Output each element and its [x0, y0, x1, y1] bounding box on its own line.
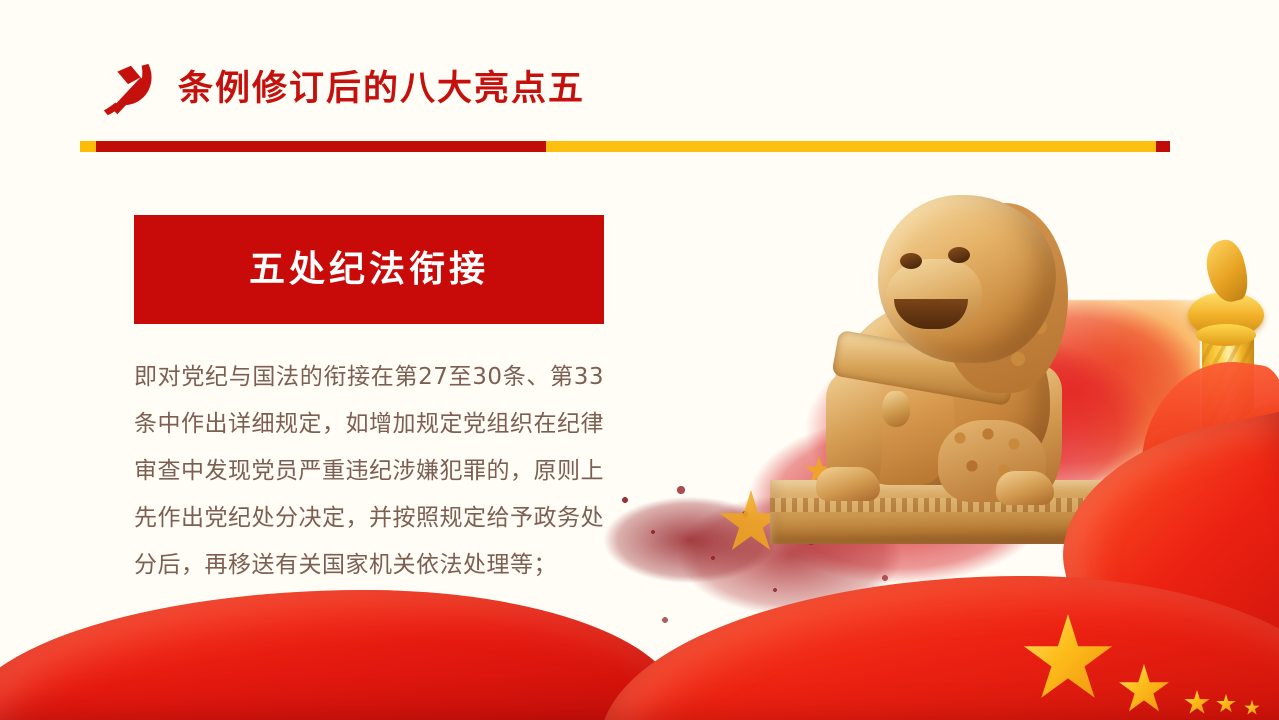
huabiao-column-icon — [1186, 232, 1264, 652]
divider-segment-red-end — [1156, 141, 1170, 152]
lion-rear-leg — [986, 365, 1062, 495]
huabiao-disc — [1188, 292, 1264, 338]
huabiao-cloud-board-right — [1238, 404, 1279, 476]
lion-paw — [816, 467, 880, 501]
flag-star-icon — [718, 490, 784, 556]
lion-mane — [940, 203, 1068, 393]
content-column: 五处纪法衔接 即对党纪与国法的衔接在第27至30条、第33条中作出详细规定，如增… — [134, 215, 604, 589]
slide-header: 条例修订后的八大亮点五 — [0, 0, 1279, 170]
red-silk-ribbon-tail — [1125, 351, 1279, 600]
header-divider — [80, 141, 1170, 152]
watercolor-splash — [600, 300, 1200, 660]
divider-segment-yellow-main — [546, 141, 1156, 152]
callout-label: 五处纪法衔接 — [249, 252, 489, 288]
title-row: 条例修订后的八大亮点五 — [98, 58, 585, 120]
lion-eye — [948, 247, 970, 263]
flag-star-icon — [804, 456, 834, 486]
lion-mouth — [894, 299, 968, 329]
flag-star-icon — [828, 518, 854, 544]
divider-segment-red-main — [96, 141, 546, 152]
lion-head — [878, 195, 1056, 363]
lion-body — [830, 300, 1050, 485]
lion-cub — [938, 420, 1046, 502]
lion-front-leg — [826, 373, 882, 501]
red-silk-ribbon-right — [600, 576, 1279, 720]
lion-muzzle — [886, 259, 982, 331]
body-paragraph: 即对党纪与国法的衔接在第27至30条、第33条中作出详细规定，如增加规定党组织在… — [134, 354, 604, 589]
gold-star-tiny-icon — [1244, 700, 1260, 716]
watercolor-speckles-icon — [605, 470, 935, 670]
gold-star-small-icon — [1184, 690, 1210, 716]
red-silk-ribbon-left — [0, 590, 680, 720]
huabiao-beast — [1201, 236, 1253, 305]
huabiao-ring — [1196, 324, 1256, 346]
gold-star-large-icon — [1022, 614, 1114, 706]
lion-chest — [845, 345, 955, 485]
gold-star-tiny-icon — [1216, 694, 1236, 714]
huabiao-cloud-board-left — [1142, 428, 1194, 494]
flag-star-icon — [878, 396, 904, 422]
lion-bell — [882, 391, 910, 427]
party-emblem-icon — [98, 58, 160, 120]
callout-box: 五处纪法衔接 — [134, 215, 604, 324]
slide-canvas: 条例修订后的八大亮点五 五处纪法衔接 即对党纪与国法的衔接在第27至30条、第3… — [0, 0, 1279, 720]
huabiao-shaft — [1202, 332, 1254, 662]
red-silk-ribbon-swoop — [1042, 404, 1279, 720]
gold-star-medium-icon — [1118, 664, 1170, 716]
lion-pedestal — [770, 480, 1110, 544]
flag-star-icon — [826, 404, 852, 430]
lion-eye — [900, 253, 922, 269]
lion-paw — [996, 471, 1054, 505]
guardian-lion-icon — [790, 195, 1120, 535]
page-title: 条例修订后的八大亮点五 — [178, 72, 585, 107]
lion-collar — [831, 330, 1016, 407]
divider-segment-yellow-start — [80, 141, 96, 152]
